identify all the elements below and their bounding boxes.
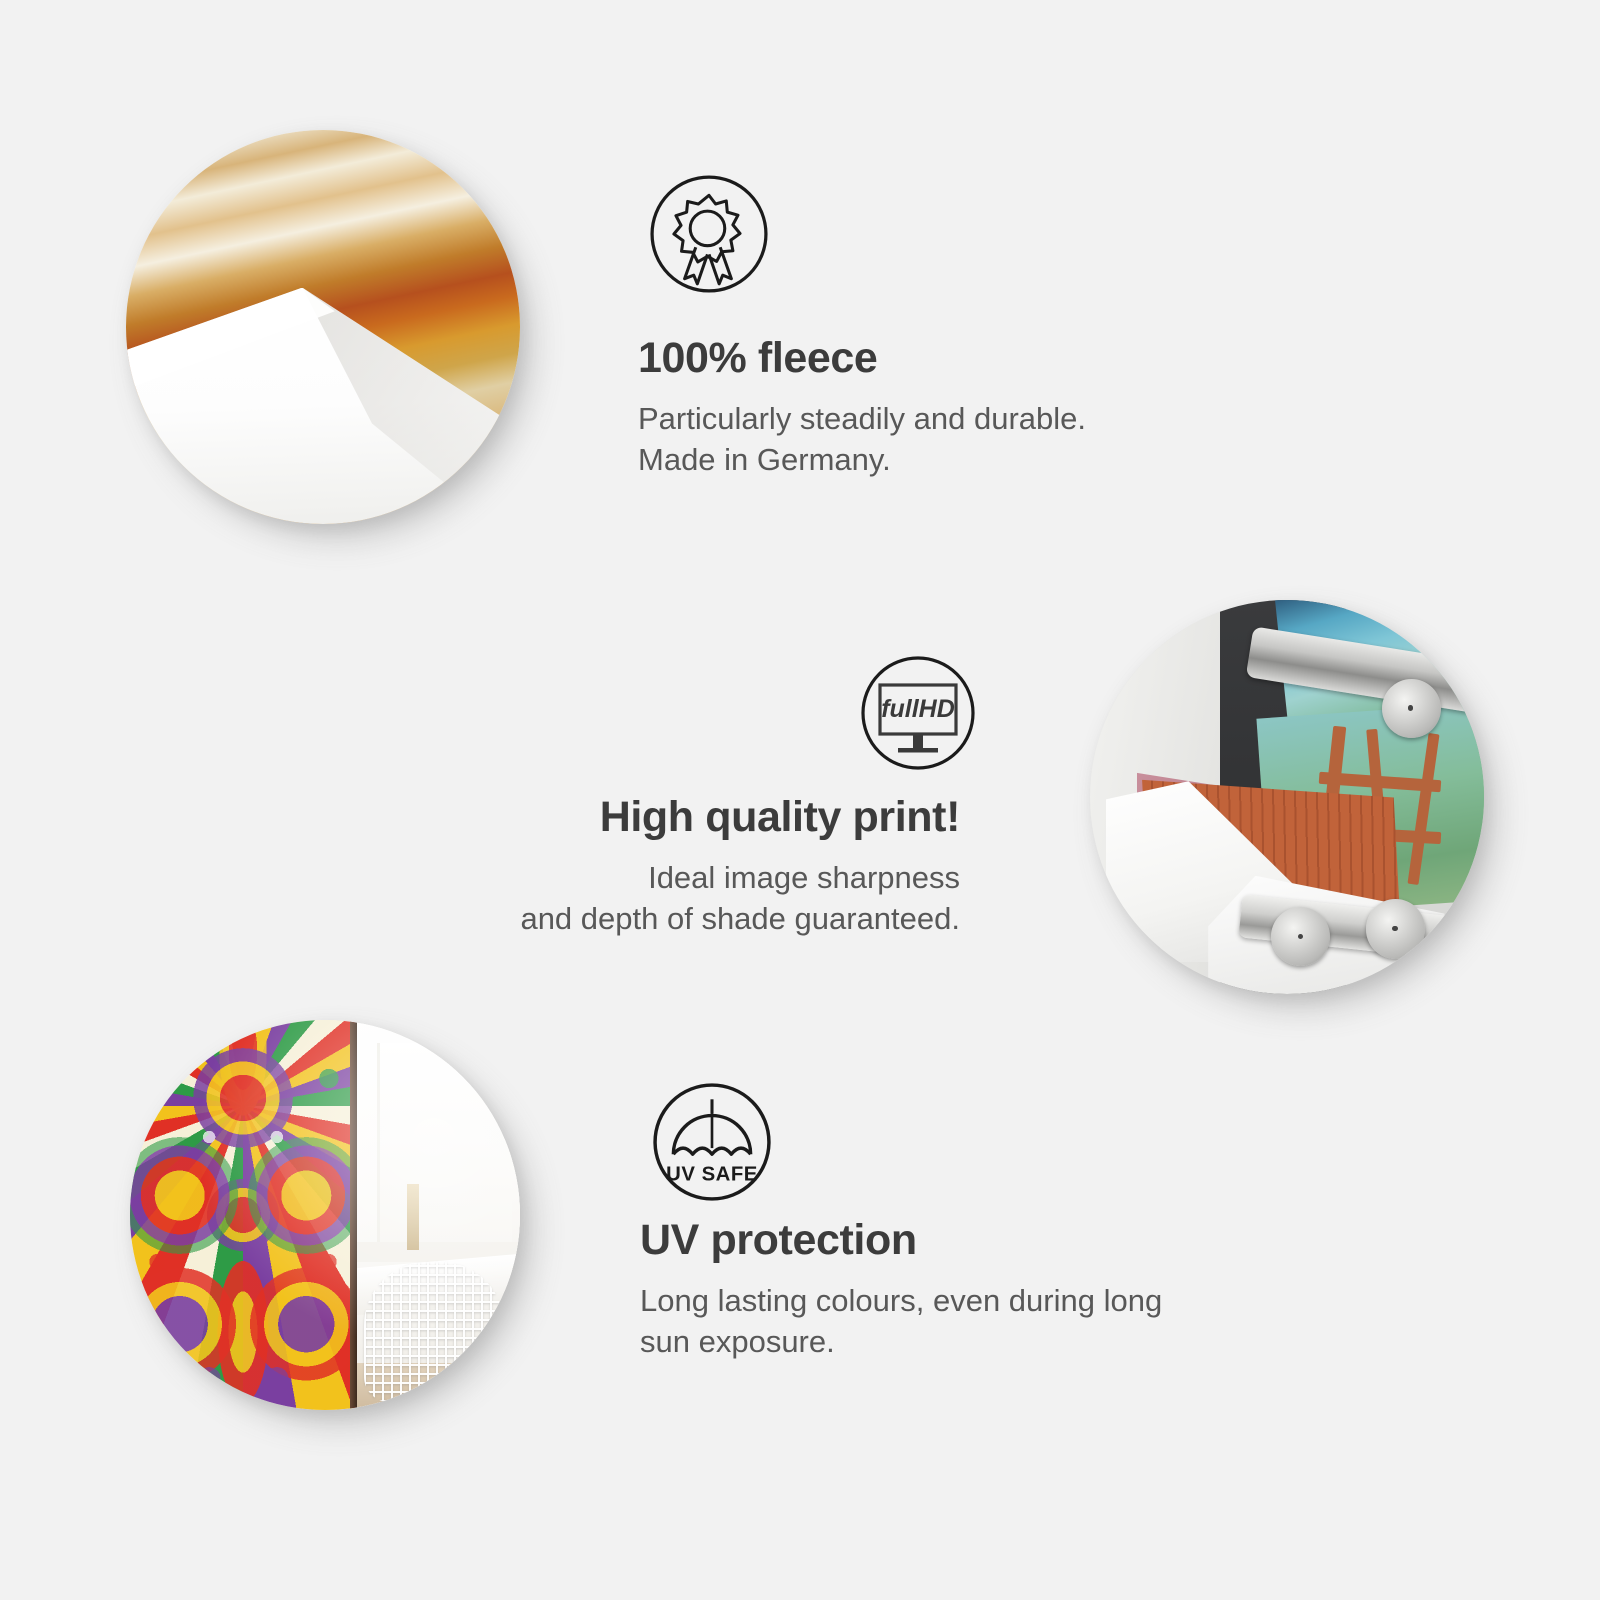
infographic-stage: 100% fleece Particularly steadily and du…: [0, 0, 1600, 1600]
fullhd-monitor-icon: fullHD: [858, 653, 978, 773]
uv-safe-icon-label: UV SAFE: [666, 1164, 758, 1186]
award-ribbon-icon: [648, 173, 770, 295]
fullhd-icon-label: fullHD: [881, 695, 955, 723]
printer-roller-cap-top: [1382, 679, 1441, 738]
feature-image-fleece: [126, 130, 520, 524]
feature-body-uv: Long lasting colours, even during long s…: [640, 1281, 1360, 1363]
feature-body-print: Ideal image sharpness and depth of shade…: [300, 858, 960, 940]
feature-text-fleece: 100% fleece Particularly steadily and du…: [638, 336, 1338, 481]
feature-text-print: High quality print! Ideal image sharpnes…: [300, 795, 960, 940]
feature-body-fleece: Particularly steadily and durable. Made …: [638, 399, 1338, 481]
window-light-glow: [130, 1020, 520, 1410]
feature-heading-fleece: 100% fleece: [638, 336, 1338, 381]
feature-image-printer: [1090, 600, 1484, 994]
feature-heading-print: High quality print!: [300, 795, 960, 840]
printer-roller-cap-bottom: [1366, 899, 1425, 958]
feature-heading-uv: UV protection: [640, 1218, 1360, 1263]
uv-safe-umbrella-icon: UV SAFE: [651, 1081, 773, 1203]
feature-image-mandala: [130, 1020, 520, 1410]
feature-text-uv: UV protection Long lasting colours, even…: [640, 1218, 1360, 1363]
